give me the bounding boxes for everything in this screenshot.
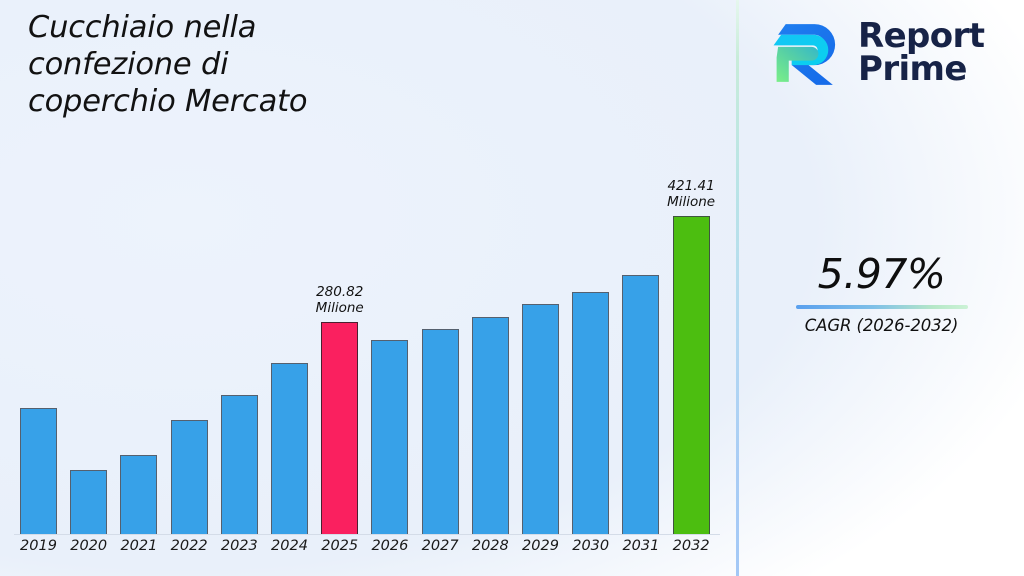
bar-value-label-2025: 280.82 Milione [280, 284, 400, 317]
bar-2032[interactable] [673, 216, 710, 534]
bar-2025[interactable] [321, 322, 358, 534]
cagr-caption: CAGR (2026-2032) [739, 315, 1024, 337]
report-prime-r-logo-icon [769, 14, 845, 92]
bar-2020[interactable] [70, 470, 107, 534]
bar-2027[interactable] [422, 329, 459, 534]
cagr-block: 5.97% CAGR (2026-2032) [739, 250, 1024, 337]
bar-value-label-2032: 421.41 Milione [631, 178, 751, 211]
brand-wordmark: Report Prime [858, 20, 984, 86]
chart-panel: Cucchiaio nella confezione di coperchio … [0, 0, 737, 576]
brand-logo: Report Prime [769, 14, 984, 92]
bar-2021[interactable] [120, 455, 157, 534]
plot-area: 201920202021202220232024280.82 Milione20… [0, 0, 737, 576]
bar-2031[interactable] [622, 275, 659, 534]
chart-canvas: Cucchiaio nella confezione di coperchio … [0, 0, 1024, 576]
bar-2028[interactable] [472, 317, 509, 534]
bar-2022[interactable] [171, 420, 208, 534]
cagr-value: 5.97% [739, 250, 1024, 298]
bar-2024[interactable] [271, 363, 308, 534]
right-panel: Report Prime 5.97% CAGR (2026-2032) [739, 0, 1024, 576]
bar-2023[interactable] [221, 395, 258, 534]
bar-2026[interactable] [371, 340, 408, 534]
bar-2029[interactable] [522, 304, 559, 534]
x-tick-2032: 2032 [661, 538, 721, 554]
cagr-divider-rule [796, 305, 968, 309]
bar-2019[interactable] [20, 408, 57, 534]
bar-2030[interactable] [572, 292, 609, 534]
